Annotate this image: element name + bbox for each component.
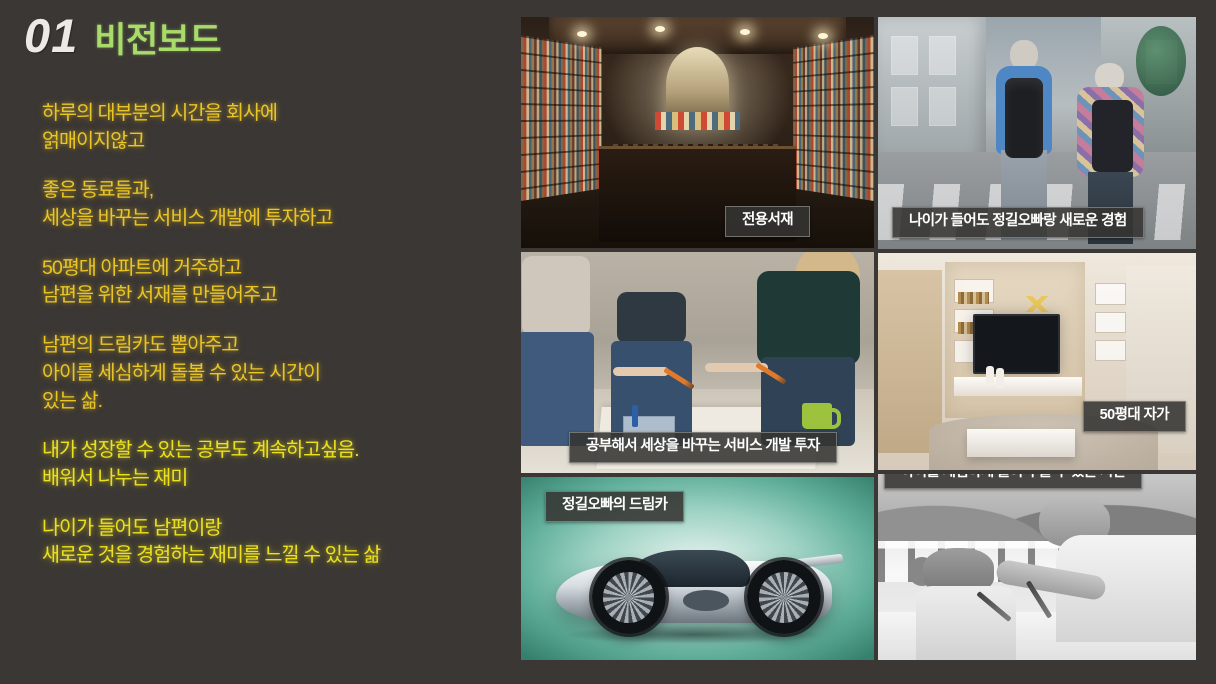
photo-tile-father-child[interactable]: 아이를 세심하게 들여다 볼 수 있는 시간 xyxy=(878,474,1196,660)
photo-tile-study[interactable]: 공부해서 세상을 바꾸는 서비스 개발 투자 xyxy=(521,252,874,473)
vision-paragraph: 하루의 대부분의 시간을 회사에 얽매이지않고 xyxy=(42,100,492,155)
vision-board-slide: 01 비전보드 하루의 대부분의 시간을 회사에 얽매이지않고 좋은 동료들과,… xyxy=(0,0,1216,684)
father-and-child-photo xyxy=(878,474,1196,660)
photo-caption: 공부해서 세상을 바꾸는 서비스 개발 투자 xyxy=(569,432,837,463)
vision-line: 배워서 나누는 재미 xyxy=(42,465,492,493)
vision-line: 세상을 바꾸는 서비스 개발에 투자하고 xyxy=(42,205,492,233)
vision-photo-collage: 전용서재 나이가 들어도 정길오빠랑 새로운 경험 xyxy=(521,17,1196,660)
title-label: 비전보드 xyxy=(94,23,221,58)
photo-tile-library[interactable]: 전용서재 xyxy=(521,17,874,248)
left-text-panel: 01 비전보드 하루의 대부분의 시간을 회사에 얽매이지않고 좋은 동료들과,… xyxy=(0,0,505,684)
vision-line: 있는 삶. xyxy=(42,388,492,416)
vision-line: 새로운 것을 경험하는 재미를 느낄 수 있는 삶 xyxy=(42,542,492,570)
vision-line: 남편의 드림카도 뽑아주고 xyxy=(42,332,492,360)
photo-caption: 정길오빠의 드림카 xyxy=(545,491,684,522)
vision-line: 아이를 세심하게 돌볼 수 있는 시간이 xyxy=(42,360,492,388)
vision-paragraph: 좋은 동료들과, 세상을 바꾸는 서비스 개발에 투자하고 xyxy=(42,177,492,232)
vision-paragraph: 나이가 들어도 남편이랑 새로운 것을 경험하는 재미를 느낄 수 있는 삶 xyxy=(42,515,492,570)
vision-line: 얽매이지않고 xyxy=(42,128,492,156)
photo-tile-couple[interactable]: 나이가 들어도 정길오빠랑 새로운 경험 xyxy=(878,17,1196,249)
vision-line: 내가 성장할 수 있는 공부도 계속하고싶음. xyxy=(42,437,492,465)
photo-caption: 전용서재 xyxy=(725,206,810,237)
library-photo xyxy=(521,17,874,248)
vision-line: 남편을 위한 서재를 만들어주고 xyxy=(42,282,492,310)
vision-line: 50평대 아파트에 거주하고 xyxy=(42,255,492,283)
photo-caption: 아이를 세심하게 들여다 볼 수 있는 시간 xyxy=(884,474,1142,489)
vision-statement-list: 하루의 대부분의 시간을 회사에 얽매이지않고 좋은 동료들과, 세상을 바꾸는… xyxy=(42,100,492,570)
photo-caption: 나이가 들어도 정길오빠랑 새로운 경험 xyxy=(892,207,1144,238)
photo-tile-dream-car[interactable]: 정길오빠의 드림카 xyxy=(521,477,874,660)
vision-paragraph: 남편의 드림카도 뽑아주고 아이를 세심하게 돌볼 수 있는 시간이 있는 삶. xyxy=(42,332,492,415)
vision-line: 나이가 들어도 남편이랑 xyxy=(42,515,492,543)
page-title: 01 비전보드 xyxy=(24,12,221,59)
vision-line: 좋은 동료들과, xyxy=(42,177,492,205)
living-room-photo xyxy=(878,253,1196,470)
vision-paragraph: 내가 성장할 수 있는 공부도 계속하고싶음. 배워서 나누는 재미 xyxy=(42,437,492,492)
photo-caption: 50평대 자가 xyxy=(1083,401,1186,432)
photo-tile-living-room[interactable]: 50평대 자가 xyxy=(878,253,1196,470)
vision-line: 하루의 대부분의 시간을 회사에 xyxy=(42,100,492,128)
title-number: 01 xyxy=(24,12,78,59)
vision-paragraph: 50평대 아파트에 거주하고 남편을 위한 서재를 만들어주고 xyxy=(42,255,492,310)
